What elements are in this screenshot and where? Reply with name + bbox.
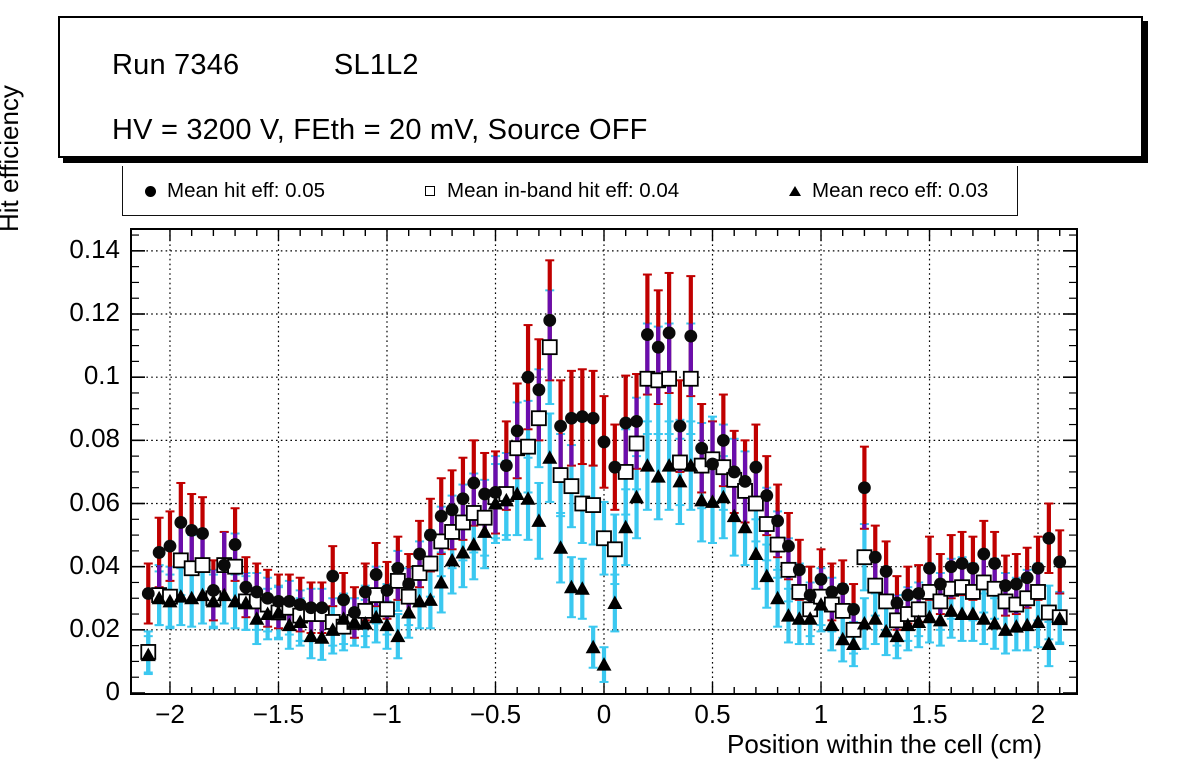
- plot-page: Run 7346 SL1L2 HV = 3200 V, FEth = 20 mV…: [0, 0, 1196, 772]
- y-tick-label: 0: [0, 676, 120, 707]
- title-line-1: Run 7346 SL1L2: [112, 49, 419, 82]
- x-tick-label: −0.5: [455, 699, 535, 730]
- legend-label-inband-eff: Mean in-band hit eff: 0.04: [447, 179, 679, 203]
- chart-canvas: [132, 230, 1076, 693]
- legend-entry-reco-eff: Mean reco eff: 0.03: [778, 166, 988, 216]
- y-tick-label: 0.08: [0, 423, 120, 454]
- open-square-icon: [413, 186, 447, 196]
- y-axis-title: Hit efficiency: [0, 0, 25, 232]
- x-axis-title: Position within the cell (cm): [727, 729, 1042, 760]
- x-tick-label: 1.5: [890, 699, 970, 730]
- title-line-2: HV = 3200 V, FEth = 20 mV, Source OFF: [112, 114, 648, 147]
- plot-area: [132, 230, 1076, 693]
- data-markers: [141, 314, 1067, 671]
- run-label: Run 7346: [112, 49, 239, 81]
- title-stats-box: Run 7346 SL1L2 HV = 3200 V, FEth = 20 mV…: [58, 16, 1143, 158]
- y-tick-label: 0.06: [0, 487, 120, 518]
- legend-entry-inband-eff: Mean in-band hit eff: 0.04: [413, 166, 679, 216]
- legend-box: Mean hit eff: 0.05 Mean in-band hit eff:…: [122, 166, 1018, 216]
- x-tick-label: 0: [564, 699, 644, 730]
- y-tick-label: 0.1: [0, 360, 120, 391]
- y-tick-label: 0.02: [0, 613, 120, 644]
- x-tick-label: −2: [130, 699, 210, 730]
- superlayer-label: SL1L2: [334, 49, 419, 81]
- filled-circle-icon: [133, 186, 167, 197]
- x-tick-label: 0.5: [673, 699, 753, 730]
- legend-entry-hit-eff: Mean hit eff: 0.05: [133, 166, 325, 216]
- y-tick-label: 0.12: [0, 297, 120, 328]
- x-tick-label: −1.5: [238, 699, 318, 730]
- y-tick-label: 0.14: [0, 234, 120, 265]
- legend-label-hit-eff: Mean hit eff: 0.05: [167, 179, 325, 203]
- legend-label-reco-eff: Mean reco eff: 0.03: [812, 179, 988, 203]
- x-tick-label: 2: [998, 699, 1078, 730]
- plot-frame: [130, 228, 1078, 695]
- y-tick-label: 0.04: [0, 550, 120, 581]
- filled-triangle-icon: [778, 186, 812, 196]
- x-tick-label: −1: [347, 699, 427, 730]
- x-tick-label: 1: [781, 699, 861, 730]
